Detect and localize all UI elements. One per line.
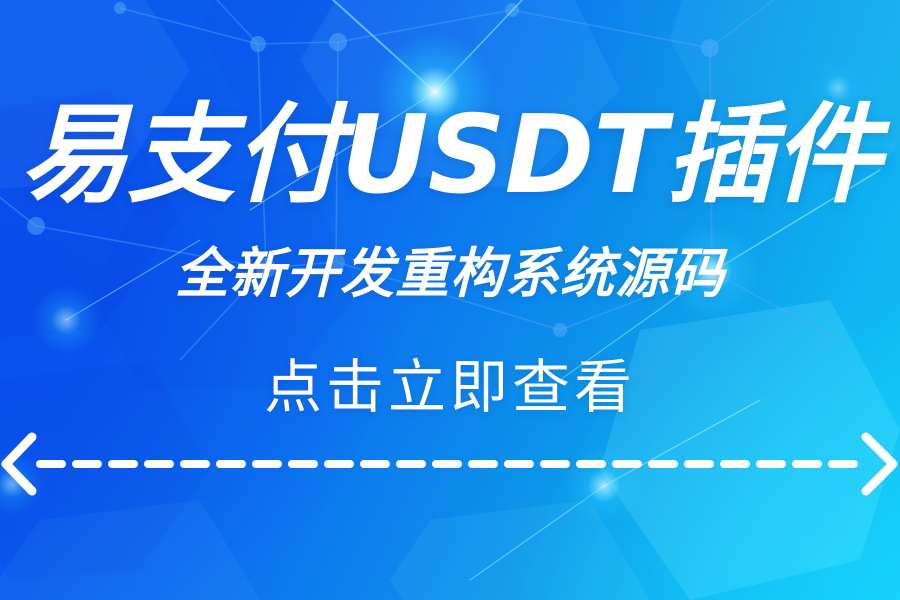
network-node bbox=[553, 323, 567, 337]
banner-cta-text[interactable]: 点击立即查看 bbox=[0, 352, 900, 422]
promo-banner[interactable]: 易支付USDT插件 全新开发重构系统源码 点击立即查看 bbox=[0, 0, 900, 600]
network-edge bbox=[338, 10, 512, 42]
background-facet bbox=[0, 500, 260, 600]
network-node bbox=[701, 39, 719, 57]
background-facet bbox=[390, 500, 650, 600]
banner-subtitle: 全新开发重构系统源码 bbox=[0, 242, 900, 306]
network-node bbox=[505, 3, 519, 17]
light-ray bbox=[300, 0, 435, 92]
network-edge bbox=[180, 0, 258, 44]
network-edge bbox=[120, 8, 258, 44]
network-node bbox=[114, 2, 126, 14]
arrow-container bbox=[0, 428, 900, 502]
arrow-head-left-icon bbox=[6, 437, 32, 491]
network-edge bbox=[710, 0, 800, 48]
network-node bbox=[27, 217, 45, 235]
light-ray bbox=[435, 0, 560, 92]
network-node bbox=[250, 36, 266, 52]
network-edge bbox=[512, 10, 710, 48]
network-node bbox=[329, 33, 347, 51]
double-headed-dashed-arrow bbox=[0, 428, 900, 502]
network-edge bbox=[258, 42, 338, 44]
arrow-head-right-icon bbox=[866, 437, 893, 491]
banner-title: 易支付USDT插件 bbox=[0, 96, 900, 216]
